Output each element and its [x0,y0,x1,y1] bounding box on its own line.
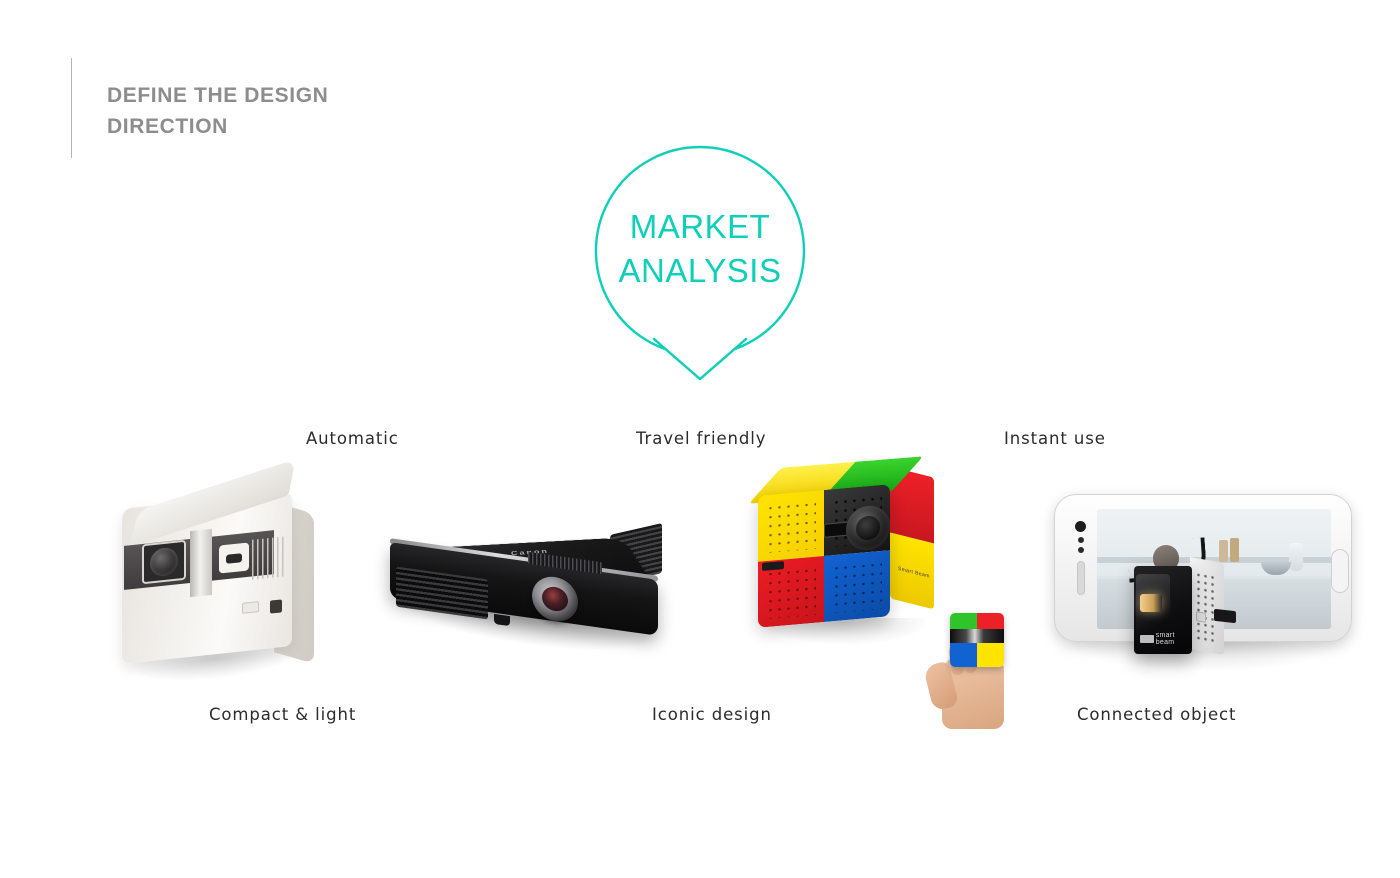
lens-beam-icon [1140,594,1162,612]
product-white-cube-projector [104,478,334,683]
mini-cube-lens-band [950,629,1004,643]
label-automatic: Automatic [306,429,399,448]
projector-foot [494,614,510,626]
screen-bottle [1289,543,1303,571]
power-port-icon [270,599,282,613]
cube-silver-strip [190,529,212,597]
mini-cube [950,613,1004,667]
control-button-icon [242,601,259,614]
market-analysis-bubble: MARKET ANALYSIS [592,143,808,383]
slide-header: DEFINE THE DESIGN DIRECTION [71,58,671,160]
mini-cube-yellow [977,640,1004,667]
product-color-cube-projector: Smart Beam [748,450,938,680]
product-hand-holding-mini-cube [916,605,1026,730]
light-sensor-icon [1078,547,1084,553]
perforation-pattern [766,500,816,553]
bubble-label: MARKET ANALYSIS [592,205,808,293]
cable-plug [1214,609,1236,623]
mini-cube-blue [950,640,977,667]
earpiece-speaker-icon [1077,561,1085,595]
label-travel-friendly: Travel friendly [636,429,766,448]
projector-side-face [1190,557,1224,655]
smart-beam-projector: smart beam [1134,560,1220,656]
product-image-row: Canon [0,450,1400,730]
screen-jar [1219,540,1228,562]
page-title: DEFINE THE DESIGN DIRECTION [107,80,328,142]
perforation-pattern [832,560,882,613]
home-button-icon [1331,549,1349,593]
brand-mark: smart beam [1140,634,1190,644]
front-camera-icon [1075,521,1086,532]
brand-text: smart beam [1156,632,1190,646]
brand-tag [1140,635,1154,643]
perforation-pattern [766,566,816,619]
ir-sensor-window [219,542,249,573]
power-button-icon[interactable] [1196,611,1206,623]
screen-jar [1230,538,1239,562]
cube-quadrant-yellow [758,490,824,562]
perforation-pattern [1195,571,1218,645]
cube-side-face [890,467,934,610]
product-phone-with-smart-beam: smart beam [1044,488,1364,688]
cube-quadrant-blue [824,550,890,622]
proximity-sensor-icon [1078,537,1084,543]
header-vertical-rule [71,58,72,158]
label-instant-use: Instant use [1004,429,1106,448]
product-black-projector: Canon [382,495,682,670]
vent-grille-icon [252,536,286,580]
